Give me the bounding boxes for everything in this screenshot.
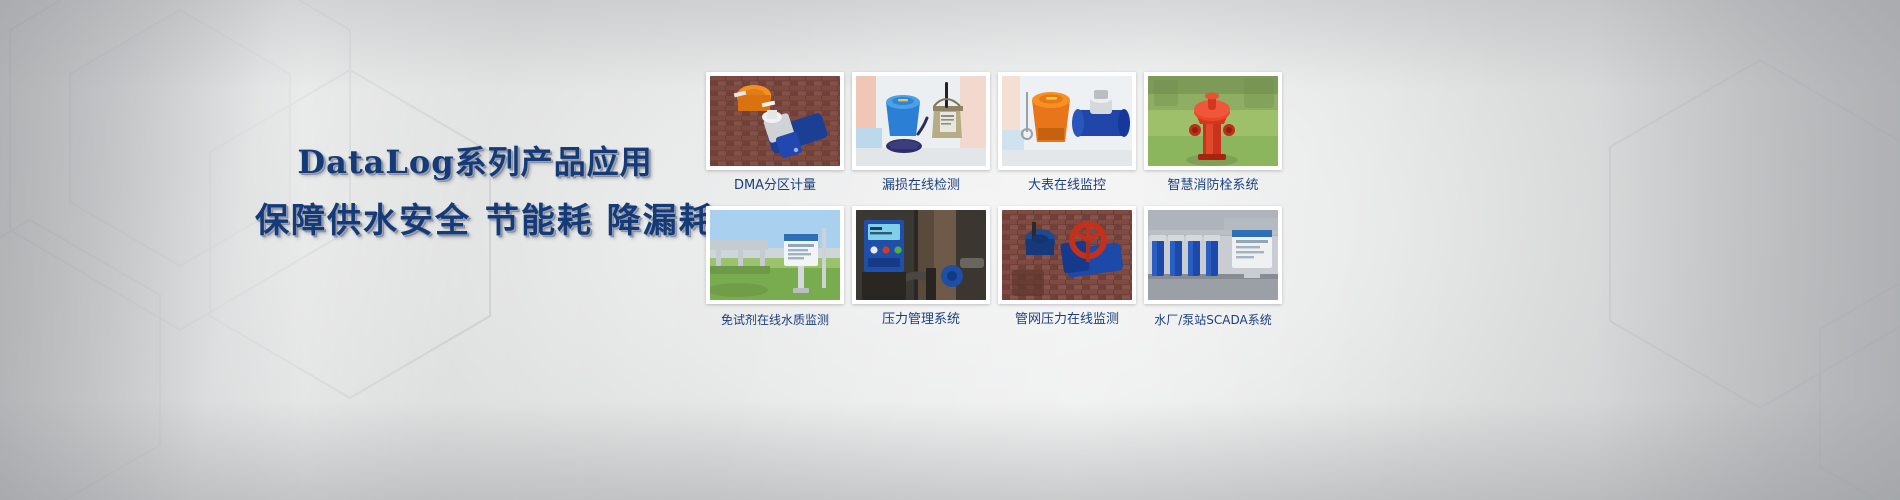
tile-caption: 智慧消防栓系统 <box>1144 178 1282 194</box>
headline-line-2: 保障供水安全 节能耗 降漏耗 <box>255 198 695 244</box>
scada-pump-room-photo <box>1148 210 1278 300</box>
network-pressure-valve-photo <box>1002 210 1132 300</box>
product-tile[interactable]: 水厂/泵站SCADA系统 <box>1144 206 1282 328</box>
product-tile[interactable]: 大表在线监控 <box>998 72 1136 194</box>
thumbnail-frame[interactable] <box>1144 206 1282 304</box>
dma-chamber-photo <box>710 76 840 166</box>
thumbnail-frame[interactable] <box>706 72 844 170</box>
product-tile-grid: DMA分区计量 <box>706 72 1282 328</box>
thumbnail-frame[interactable] <box>706 206 844 304</box>
product-tile[interactable]: 智慧消防栓系统 <box>1144 72 1282 194</box>
large-meter-photo <box>1002 76 1132 166</box>
thumbnail-frame[interactable] <box>852 206 990 304</box>
hexagon-watermark-left <box>0 0 640 500</box>
hexagon-watermark-right <box>1380 30 1900 500</box>
product-tile[interactable]: DMA分区计量 <box>706 72 844 194</box>
tile-caption: 水厂/泵站SCADA系统 <box>1144 312 1282 328</box>
tile-caption: 免试剂在线水质监测 <box>706 312 844 328</box>
thumbnail-frame[interactable] <box>998 206 1136 304</box>
tile-caption: 漏损在线检测 <box>852 178 990 194</box>
product-tile[interactable]: 漏损在线检测 <box>852 72 990 194</box>
product-tile[interactable]: 免试剂在线水质监测 <box>706 206 844 328</box>
tile-caption: DMA分区计量 <box>706 178 844 194</box>
fire-hydrant-photo <box>1148 76 1278 166</box>
tile-caption: 大表在线监控 <box>998 178 1136 194</box>
headline-line-1: DataLog系列产品应用 <box>255 140 695 184</box>
product-application-banner: DataLog系列产品应用 保障供水安全 节能耗 降漏耗 <box>0 0 1900 500</box>
thumbnail-frame[interactable] <box>998 72 1136 170</box>
tile-caption: 压力管理系统 <box>852 312 990 328</box>
leak-logger-photo <box>856 76 986 166</box>
water-quality-station-photo <box>710 210 840 300</box>
product-tile[interactable]: 压力管理系统 <box>852 206 990 328</box>
headline-block: DataLog系列产品应用 保障供水安全 节能耗 降漏耗 <box>255 140 695 244</box>
pressure-cabinet-photo <box>856 210 986 300</box>
product-tile[interactable]: 管网压力在线监测 <box>998 206 1136 328</box>
thumbnail-frame[interactable] <box>1144 72 1282 170</box>
tile-caption: 管网压力在线监测 <box>998 312 1136 328</box>
thumbnail-frame[interactable] <box>852 72 990 170</box>
